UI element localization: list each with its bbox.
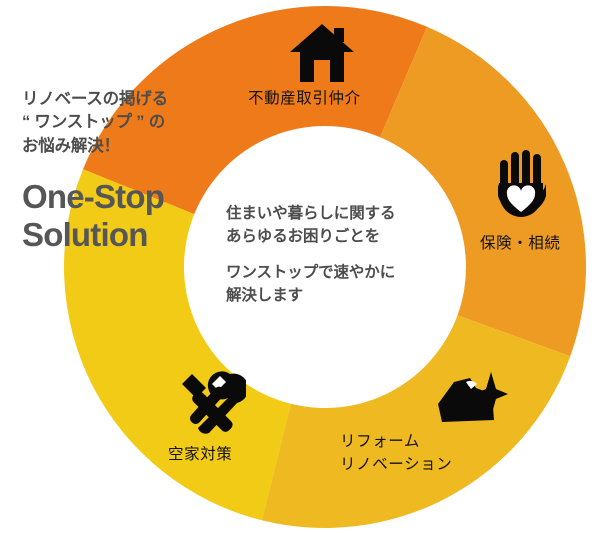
page-title: One-Stop Solution [22,178,237,253]
segment-label-reform-line1: リフォーム [340,430,452,453]
lead-line-3: お悩み解決！ [22,135,237,158]
segment-label-reform-line2: リノベーション [340,453,452,476]
headline-line-1: One-Stop [22,178,237,216]
headline-line-2: Solution [22,216,237,254]
center-paragraph2-line1: ワンストップで速やかに [226,261,461,284]
left-headline-block: リノベースの掲げる “ ワンストップ ” の お悩み解決！ One-Stop S… [22,88,237,253]
hammer-wrench-icon [172,370,246,436]
center-description-block: 住まいや暮らしに関する あらゆるお困りごとを ワンストップで速やかに 解決します [226,202,461,307]
sparkle-rock-icon [436,372,508,428]
segment-label-insurance: 保険・相続 [480,233,561,255]
house-icon [288,22,356,84]
lead-line-1: リノベースの掲げる [22,88,237,111]
segment-label-vacant: 空家対策 [168,444,232,466]
lead-line-2: “ ワンストップ ” の [22,111,237,134]
segment-label-brokerage: 不動産取引仲介 [248,88,361,110]
center-paragraph1-line1: 住まいや暮らしに関する [226,202,461,225]
infographic-stage: 不動産取引仲介 保険・相続 リフォーム リノベーション 空家対策 リノベースの掲… [0,0,600,533]
center-paragraph1-line2: あらゆるお困りごとを [226,225,461,248]
center-paragraph-spacer [226,249,461,261]
segment-reform[interactable] [262,315,570,528]
hand-heart-icon [495,150,551,220]
center-paragraph2-line2: 解決します [226,284,461,307]
segment-label-reform: リフォーム リノベーション [340,430,452,477]
